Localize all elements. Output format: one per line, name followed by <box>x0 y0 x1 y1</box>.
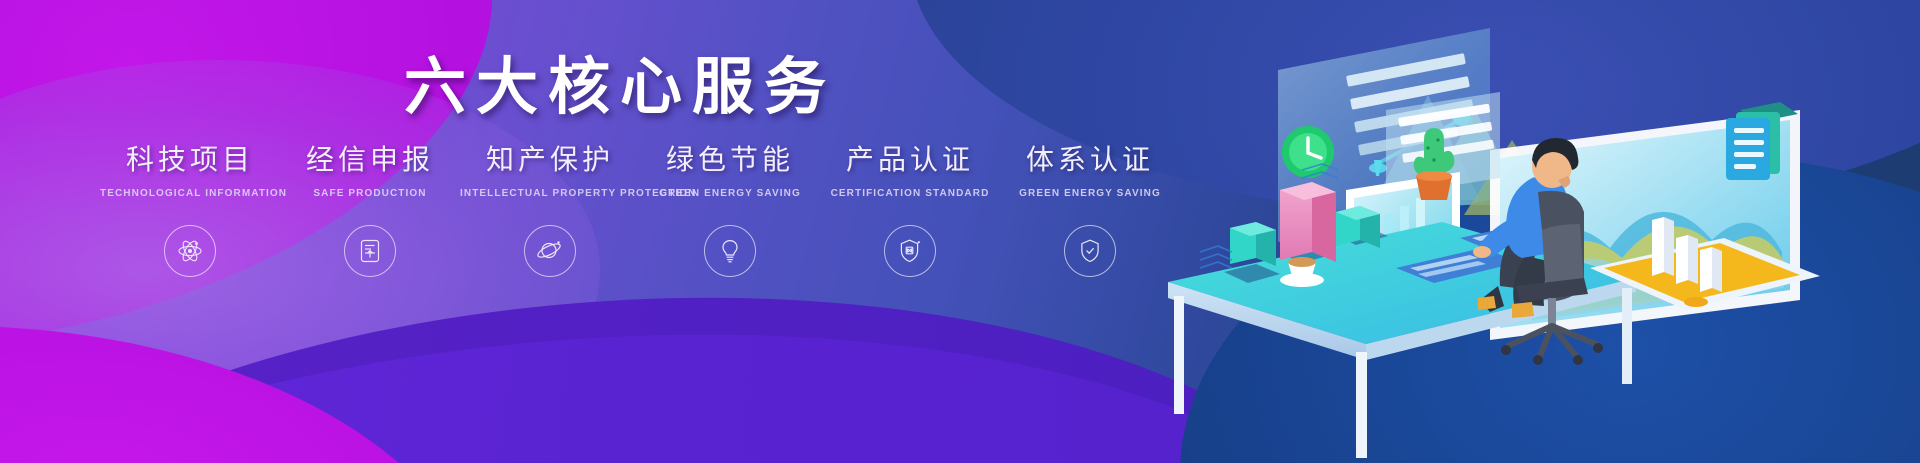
background-blob-magenta-bottom-left <box>0 284 500 463</box>
lightbulb-icon[interactable] <box>704 225 756 277</box>
service-title-cn: 体系认证 <box>1000 138 1180 178</box>
service-subtitle-en: TECHNOLOGICAL INFORMATION <box>100 188 280 199</box>
service-title-cn: 科技项目 <box>100 138 280 178</box>
service-title-cn: 知产保护 <box>460 138 640 178</box>
service-item-green-energy-saving[interactable]: 绿色节能 GREEN ENERGY SAVING <box>640 138 820 277</box>
banner: 六大核心服务 科技项目 TECHNOLOGICAL INFORMATION 经信… <box>0 0 1920 463</box>
page-title: 六大核心服务 <box>0 36 1240 126</box>
planet-icon[interactable] <box>524 225 576 277</box>
service-subtitle-en: SAFE PRODUCTION <box>280 188 460 199</box>
service-item-certification-standard[interactable]: 产品认证 CERTIFICATION STANDARD <box>820 138 1000 277</box>
service-title-cn: 产品认证 <box>820 138 1000 178</box>
service-subtitle-en: INTELLECTUAL PROPERTY PROTECTION <box>460 188 640 199</box>
service-item-technological-information[interactable]: 科技项目 TECHNOLOGICAL INFORMATION <box>100 138 280 277</box>
services-list: 科技项目 TECHNOLOGICAL INFORMATION 经信申报 SAFE… <box>100 138 1180 277</box>
shield-badge-icon[interactable] <box>884 225 936 277</box>
atom-icon[interactable] <box>164 225 216 277</box>
shield-check-icon[interactable] <box>1064 225 1116 277</box>
service-item-intellectual-property-protection[interactable]: 知产保护 INTELLECTUAL PROPERTY PROTECTION <box>460 138 640 277</box>
service-subtitle-en: GREEN ENERGY SAVING <box>640 188 820 199</box>
service-subtitle-en: GREEN ENERGY SAVING <box>1000 188 1180 199</box>
document-upload-icon[interactable] <box>344 225 396 277</box>
service-title-cn: 绿色节能 <box>640 138 820 178</box>
service-title-cn: 经信申报 <box>280 138 460 178</box>
service-item-safe-production[interactable]: 经信申报 SAFE PRODUCTION <box>280 138 460 277</box>
service-subtitle-en: CERTIFICATION STANDARD <box>820 188 1000 199</box>
clock-widget <box>1282 126 1334 178</box>
service-item-system-certification[interactable]: 体系认证 GREEN ENERGY SAVING <box>1000 138 1180 277</box>
isometric-office-illustration <box>1160 0 1920 463</box>
